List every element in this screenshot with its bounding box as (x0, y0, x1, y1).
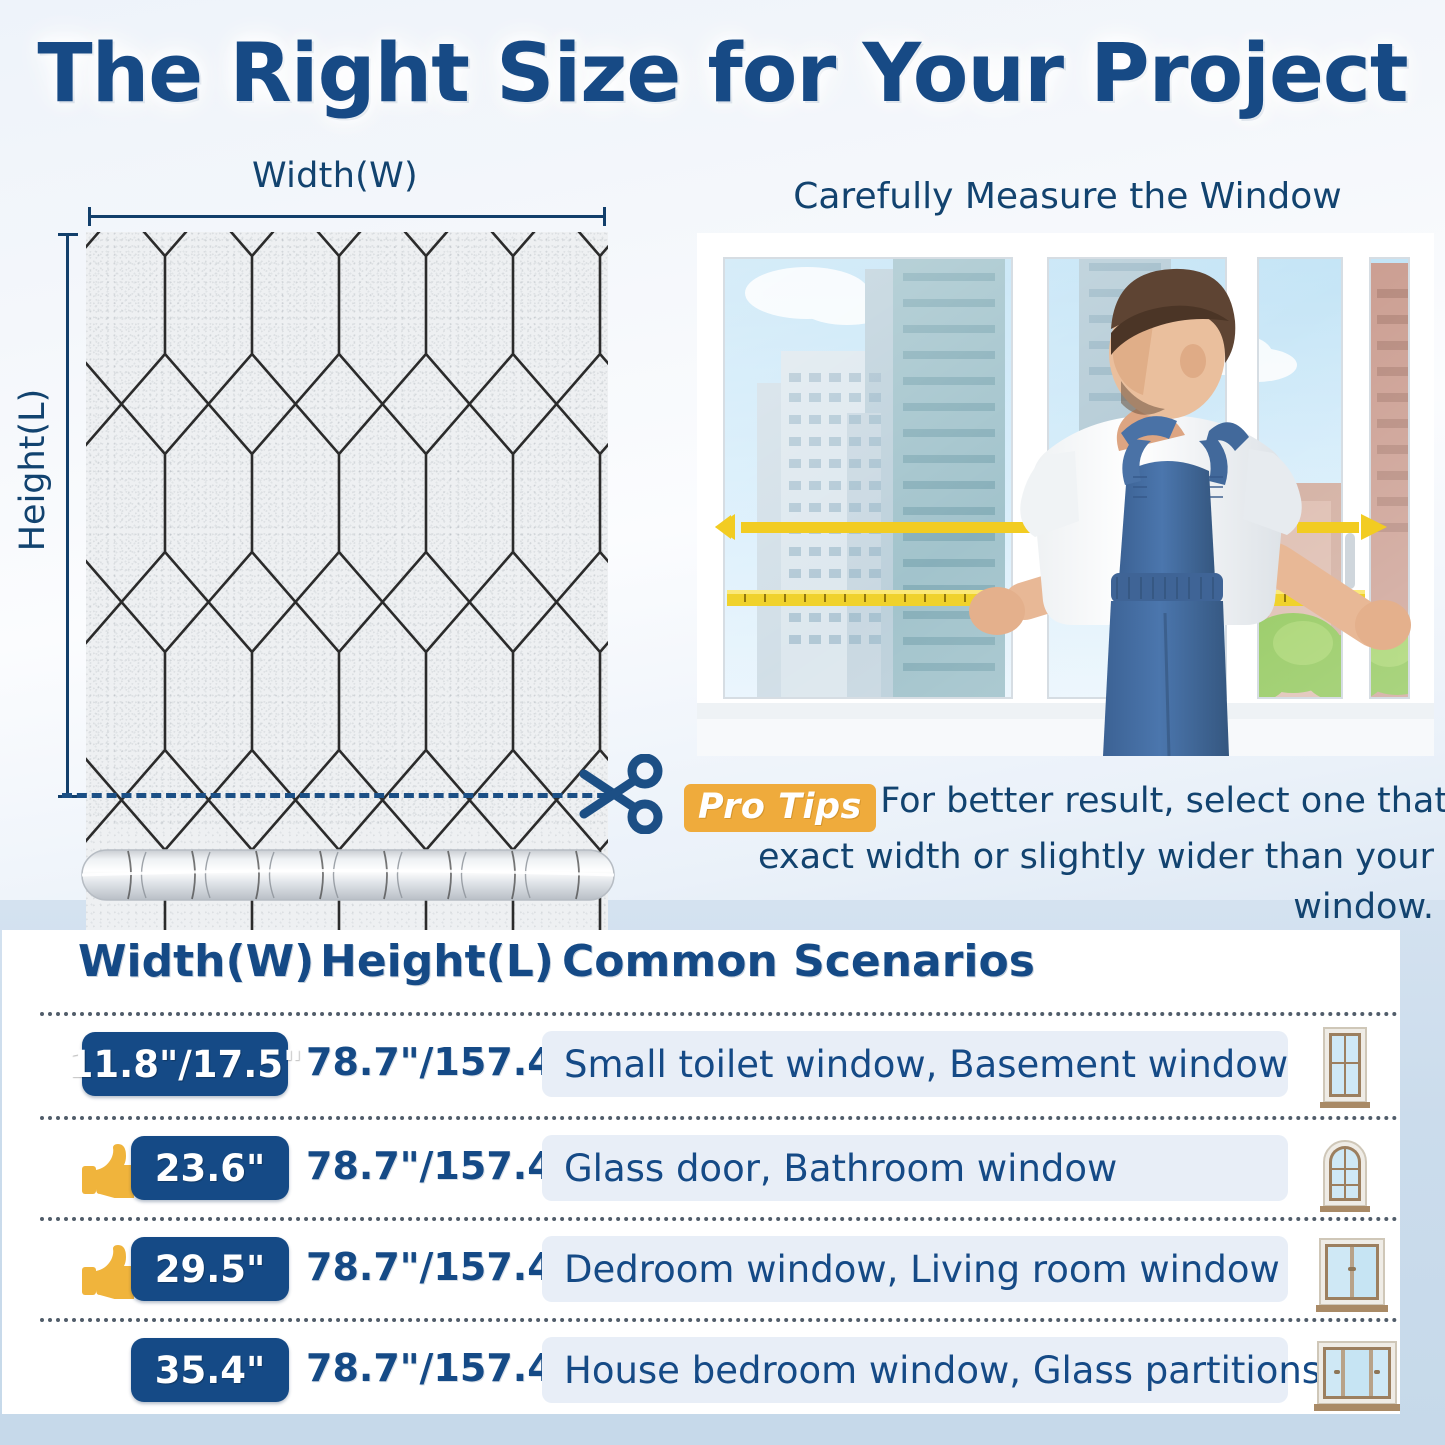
film-roll-icon (68, 844, 628, 913)
height-value: 78.7"/157.4" (306, 1144, 573, 1188)
pro-tips-line2: exact width or slightly wider than your … (684, 832, 1436, 932)
arched-window-icon (1314, 1128, 1376, 1221)
table-header-row: Width(W) Height(L) Common Scenarios (2, 936, 1400, 1004)
height-dimension-bar (58, 233, 78, 798)
page-title-text: The Right Size for Your Project (37, 27, 1407, 121)
double-casement-window-icon (1314, 1229, 1390, 1322)
column-header-scenarios: Common Scenarios (562, 936, 1035, 987)
row-divider (40, 1318, 1398, 1322)
size-table: Width(W) Height(L) Common Scenarios 11.8… (2, 930, 1400, 1414)
film-lattice-pattern (86, 232, 608, 827)
height-value: 78.7"/157.4" (306, 1040, 573, 1084)
infographic-root: The Right Size for Your Project Width(W)… (0, 0, 1445, 1445)
scenario-chip: Glass door, Bathroom window (542, 1135, 1288, 1201)
scenario-text: Glass door, Bathroom window (542, 1147, 1117, 1190)
height-bar-line (66, 233, 69, 798)
table-row[interactable]: 23.6" 78.7"/157.4" Glass door, Bathroom … (2, 1122, 1400, 1222)
width-badge: 29.5" (131, 1237, 289, 1301)
scenario-text: House bedroom window, Glass partitions (542, 1349, 1321, 1392)
scissors-icon (578, 754, 664, 839)
width-bar-cap-right (603, 207, 606, 226)
column-header-height: Height(L) (320, 936, 554, 987)
height-value: 78.7"/157.4" (306, 1245, 573, 1289)
width-badge: 23.6" (131, 1136, 289, 1200)
window-film-sheet (86, 232, 608, 827)
column-header-width: Width(W) (78, 936, 314, 987)
scenario-chip: Dedroom window, Living room window (542, 1236, 1288, 1302)
page-title: The Right Size for Your Project (0, 18, 1445, 130)
tall-pane-window-icon (1314, 1024, 1376, 1117)
width-bar-line (88, 215, 606, 218)
width-bar-cap-left (88, 207, 91, 226)
width-badge: 35.4" (131, 1338, 289, 1402)
triple-panel-window-icon (1314, 1330, 1400, 1423)
scenario-text: Small toilet window, Basement window (542, 1043, 1288, 1086)
height-dimension-label: Height(L) (13, 385, 53, 555)
cut-guide-line (62, 793, 622, 798)
width-dimension-bar (88, 207, 606, 225)
table-row[interactable]: 11.8"/17.5" 78.7"/157.4" Small toilet wi… (2, 1018, 1400, 1118)
worker-measuring-window-photo (697, 233, 1434, 756)
height-value: 78.7"/157.4" (306, 1346, 573, 1390)
row-divider (40, 1116, 1398, 1120)
pro-tips-badge: Pro Tips (684, 784, 876, 832)
scenario-chip: Small toilet window, Basement window (542, 1031, 1288, 1097)
pro-tips-block: Pro Tips For better result, select one t… (684, 776, 1436, 876)
table-row[interactable]: 29.5" 78.7"/157.4" Dedroom window, Livin… (2, 1223, 1400, 1323)
film-size-diagram: Width(W) Height(L) (0, 150, 680, 910)
row-divider (40, 1012, 1398, 1016)
thumbs-up-icon (80, 1245, 134, 1304)
scenario-chip: House bedroom window, Glass partitions (542, 1337, 1288, 1403)
table-row[interactable]: 35.4" 78.7"/157.4" House bedroom window,… (2, 1324, 1400, 1424)
thumbs-up-icon (80, 1144, 134, 1203)
width-dimension-label: Width(W) (252, 156, 418, 196)
scenario-text: Dedroom window, Living room window (542, 1248, 1280, 1291)
row-divider (40, 1217, 1398, 1221)
pro-tips-line1: For better result, select one that's (880, 781, 1445, 821)
height-bar-cap-top (58, 233, 78, 236)
width-badge: 11.8"/17.5" (82, 1032, 288, 1096)
photo-caption: Carefully Measure the Window (690, 176, 1445, 217)
